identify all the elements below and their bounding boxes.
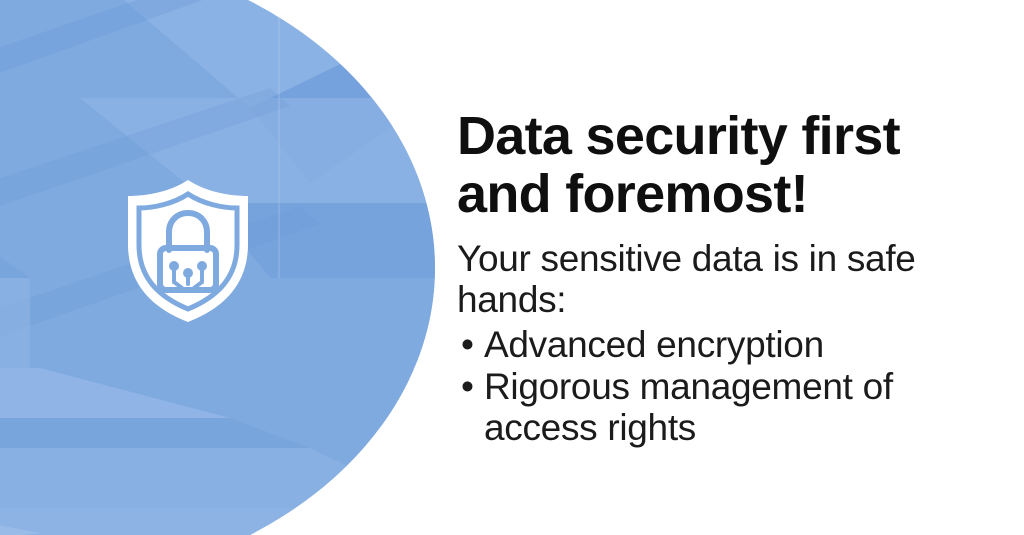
bullet-marker-icon: • (461, 324, 474, 365)
feature-list: • Advanced encryption • Rigorous managem… (457, 324, 987, 448)
slide-canvas: Data security first and foremost! Your s… (0, 0, 1024, 535)
page-title: Data security first and foremost! (457, 108, 987, 224)
list-item: • Advanced encryption (457, 324, 964, 365)
shield-lock-glyph (122, 178, 254, 324)
shield-lock-icon (122, 178, 254, 324)
text-column: Data security first and foremost! Your s… (457, 108, 987, 449)
list-item-label: Advanced encryption (484, 324, 824, 365)
list-item-label: Rigorous management of access rights (484, 366, 893, 448)
list-item: • Rigorous management of access rights (457, 366, 964, 449)
bullet-marker-icon: • (461, 366, 474, 407)
subheading: Your sensitive data is in safe hands: (457, 238, 927, 321)
